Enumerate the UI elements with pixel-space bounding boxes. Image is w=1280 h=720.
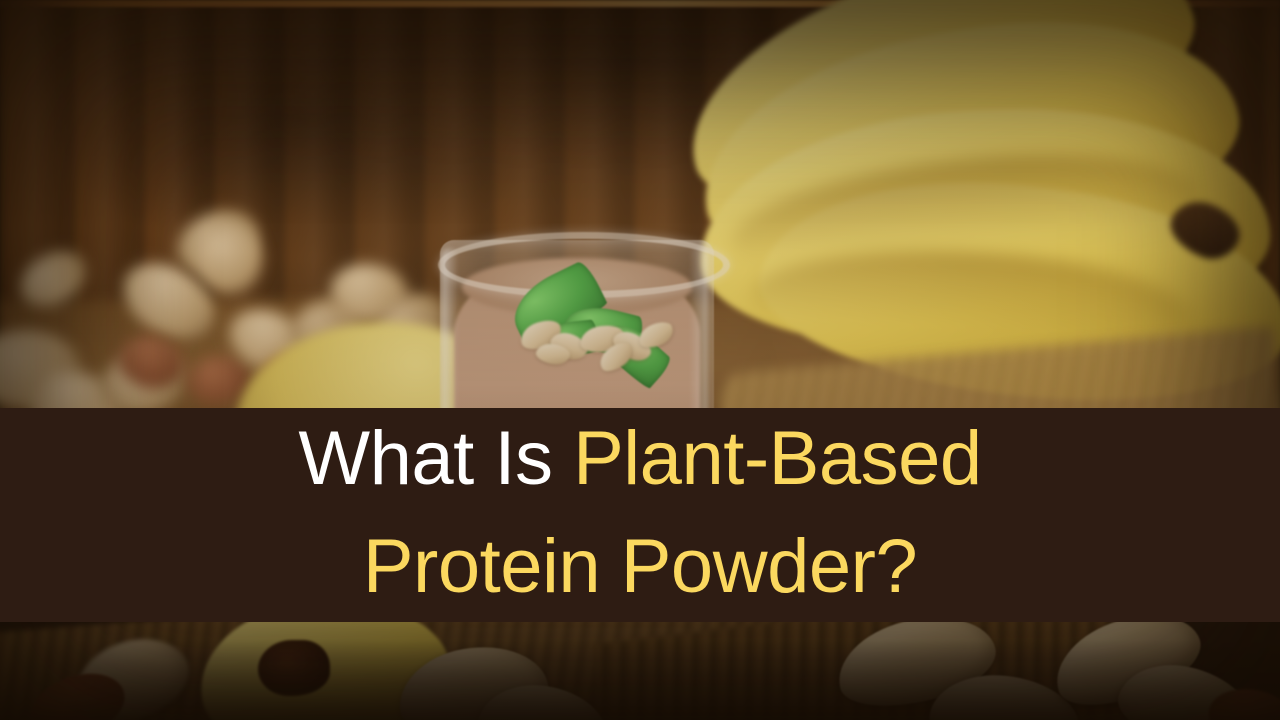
title-line-1: What Is Plant-Based [298, 421, 981, 497]
title-segment-accent: Plant-Based [573, 416, 982, 501]
title-line-2: Protein Powder? [363, 529, 917, 605]
title-segment-accent: Protein Powder? [363, 524, 917, 609]
title-segment-white: What Is [298, 416, 573, 501]
title-banner: What Is Plant-Based Protein Powder? [0, 408, 1280, 622]
hero-image-card: What Is Plant-Based Protein Powder? [0, 0, 1280, 720]
